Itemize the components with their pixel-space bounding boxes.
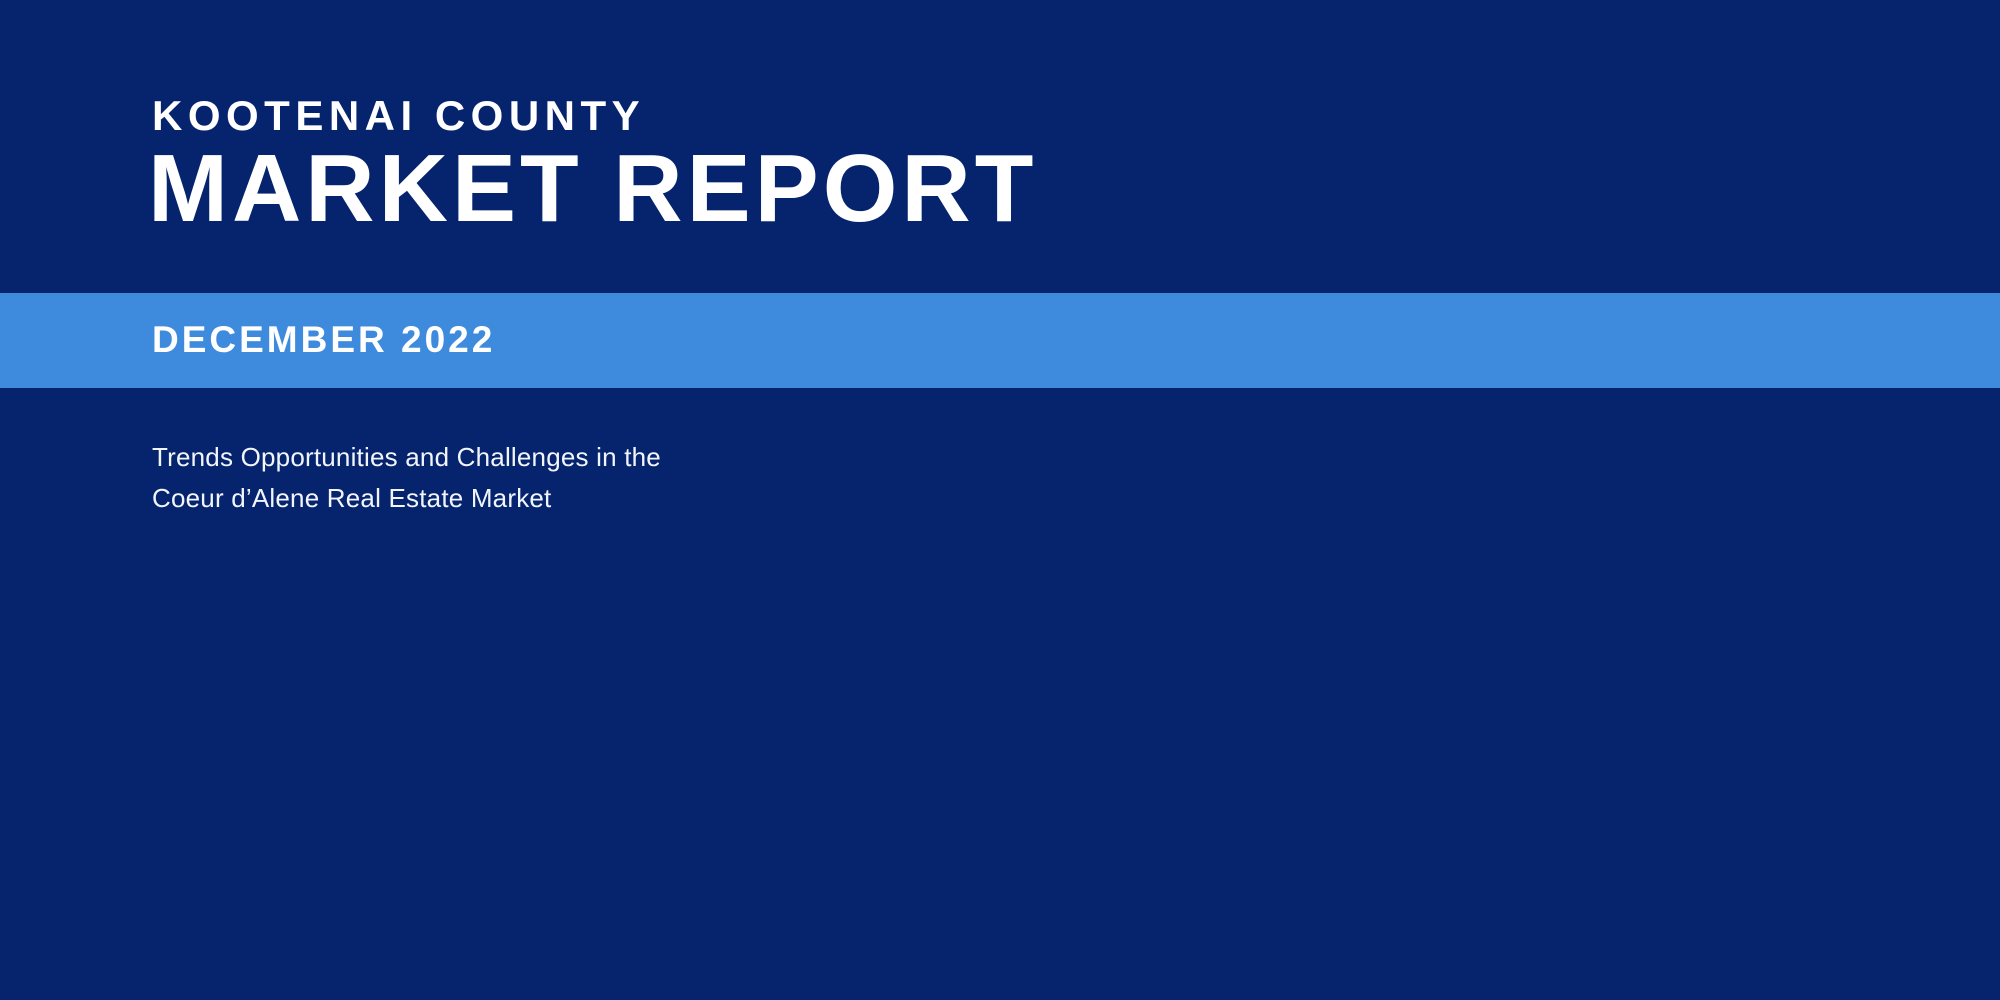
subtitle-line-1: Trends Opportunities and Challenges in t… bbox=[152, 437, 661, 478]
date-banner: DECEMBER 2022 bbox=[0, 293, 2000, 388]
report-cover-page: KOOTENAI COUNTY MARKET REPORT DECEMBER 2… bbox=[0, 0, 2000, 1000]
hero-block: KOOTENAI COUNTY MARKET REPORT bbox=[0, 0, 2000, 293]
subtitle-line-2: Coeur d’Alene Real Estate Market bbox=[152, 478, 661, 519]
subtitle: Trends Opportunities and Challenges in t… bbox=[152, 437, 661, 519]
eyebrow-kootenai-county: KOOTENAI COUNTY bbox=[152, 95, 645, 137]
date-banner-label: DECEMBER 2022 bbox=[152, 321, 495, 358]
page-title: MARKET REPORT bbox=[148, 140, 1037, 238]
